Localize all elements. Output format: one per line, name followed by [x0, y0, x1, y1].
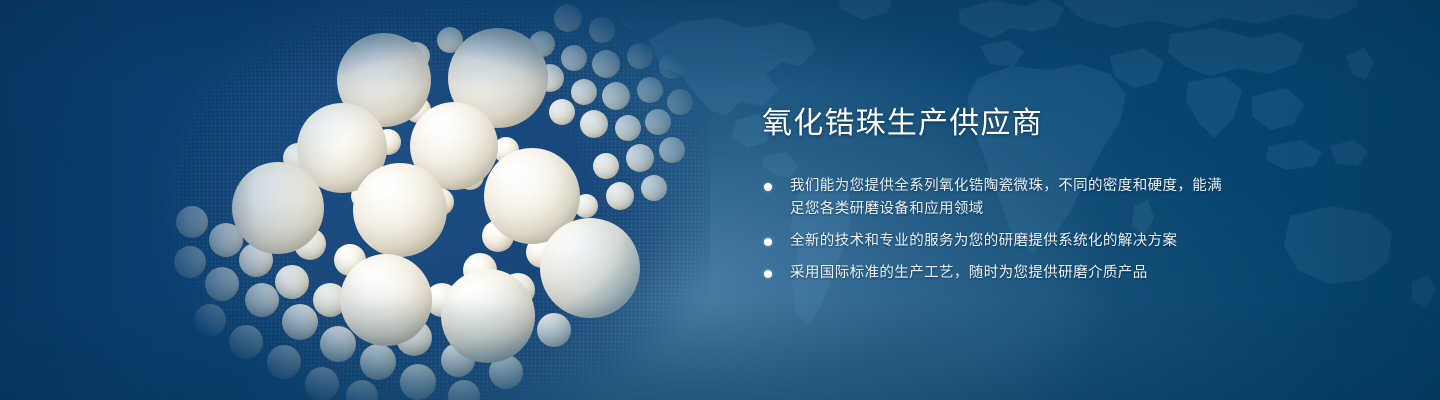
list-item: 采用国际标准的生产工艺，随时为您提供研磨介质产品	[762, 262, 1232, 285]
list-item: 我们能为您提供全系列氧化锆陶瓷微珠，不同的密度和硬度，能满足您各类研磨设备和应用…	[762, 175, 1232, 221]
feature-list: 我们能为您提供全系列氧化锆陶瓷微珠，不同的密度和硬度，能满足您各类研磨设备和应用…	[762, 175, 1232, 285]
page-title: 氧化锆珠生产供应商	[762, 106, 1232, 141]
feature-text: 采用国际标准的生产工艺，随时为您提供研磨介质产品	[790, 262, 1232, 285]
bullet-dot-icon	[764, 183, 772, 191]
banner-content: 氧化锆珠生产供应商 我们能为您提供全系列氧化锆陶瓷微珠，不同的密度和硬度，能满足…	[762, 106, 1232, 285]
list-item: 全新的技术和专业的服务为您的研磨提供系统化的解决方案	[762, 230, 1232, 253]
feature-text: 全新的技术和专业的服务为您的研磨提供系统化的解决方案	[790, 230, 1232, 253]
feature-text: 我们能为您提供全系列氧化锆陶瓷微珠，不同的密度和硬度，能满足您各类研磨设备和应用…	[790, 175, 1232, 221]
hero-banner: 氧化锆珠生产供应商 我们能为您提供全系列氧化锆陶瓷微珠，不同的密度和硬度，能满足…	[0, 0, 1440, 400]
bullet-dot-icon	[764, 238, 772, 246]
bullet-dot-icon	[764, 270, 772, 278]
